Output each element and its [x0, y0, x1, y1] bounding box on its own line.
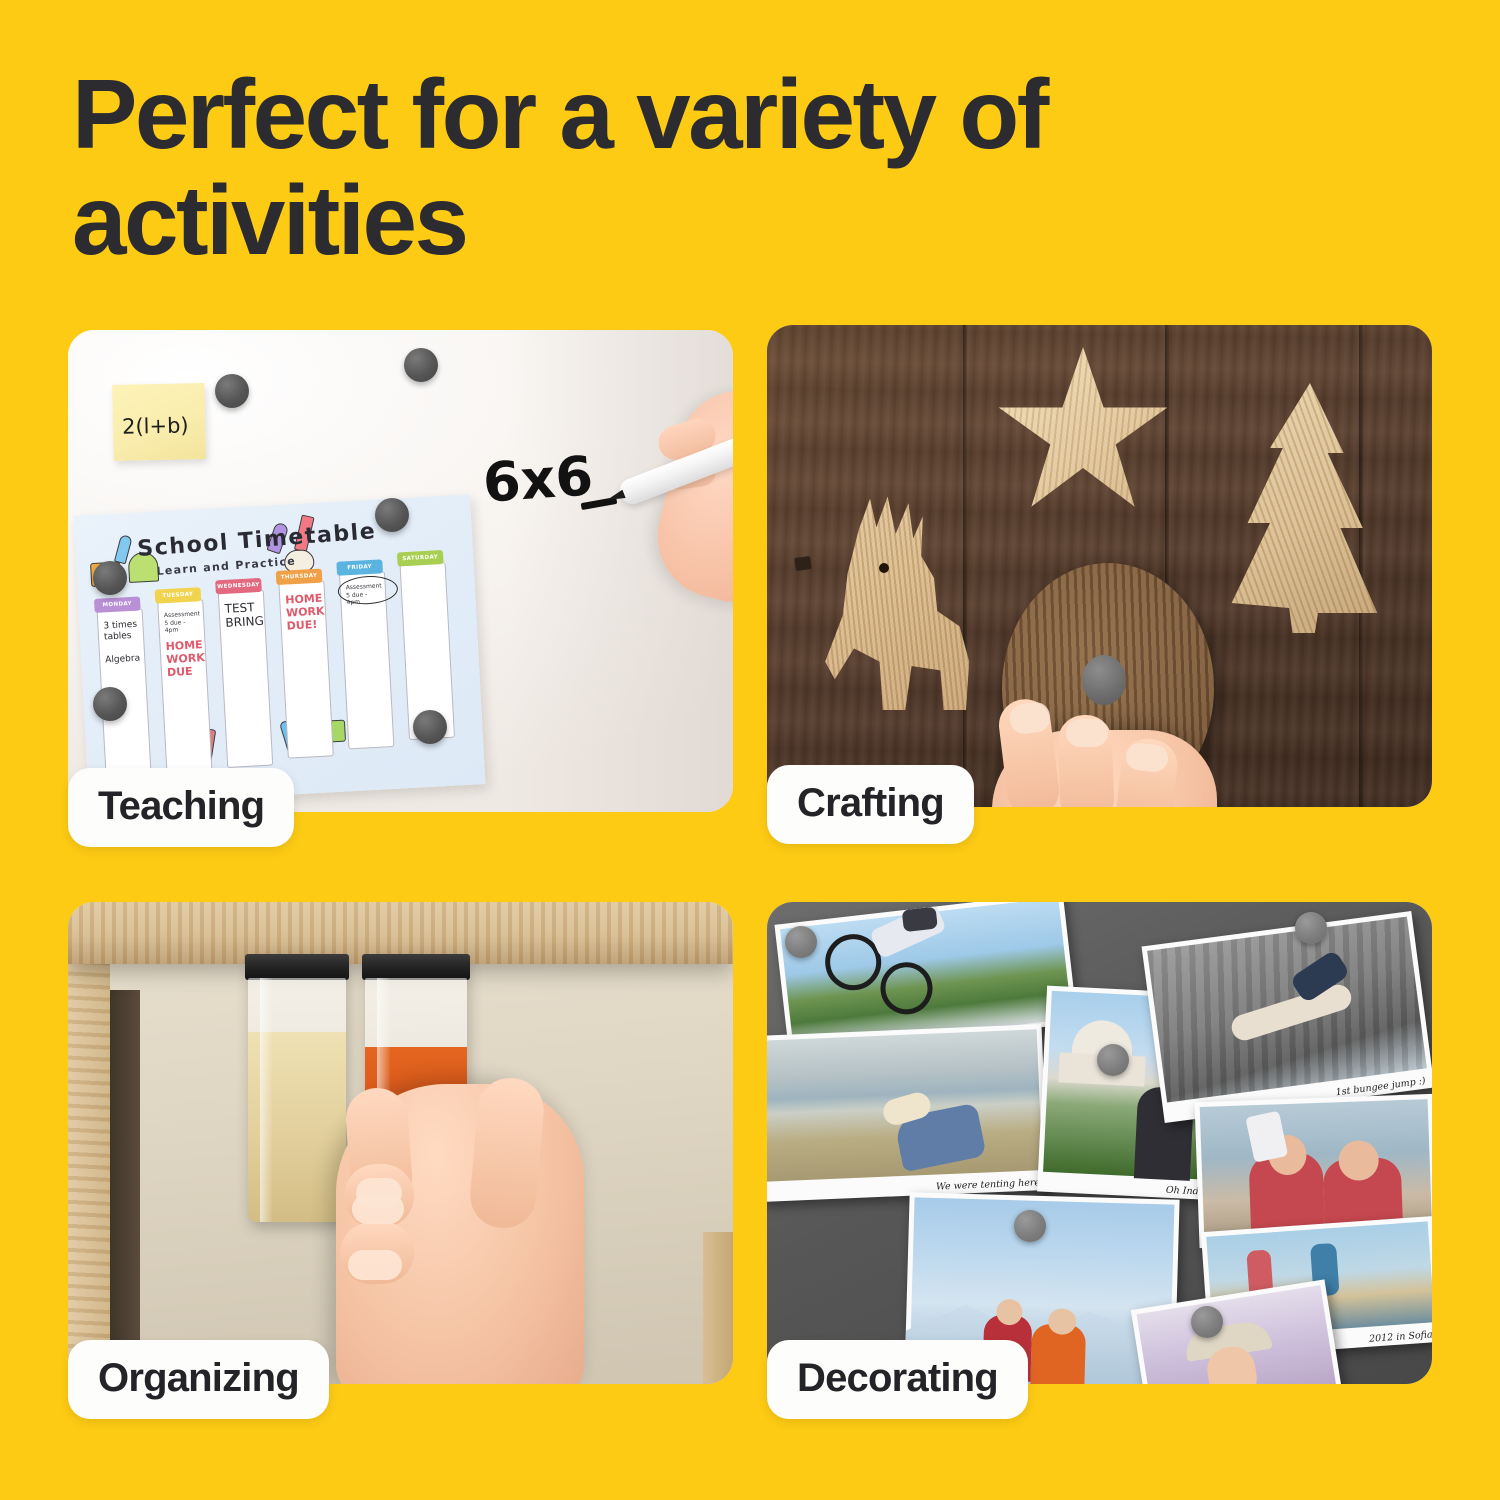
teaching-scene: 2(l+b) School Timetable Learn and Practi… — [68, 330, 733, 812]
day-highlight: HOME WORK DUE — [165, 638, 202, 679]
magnet-dot — [375, 498, 409, 532]
panel-label-teaching: Teaching — [68, 768, 294, 847]
day-tag: TUESDAY — [155, 587, 202, 603]
fingernail — [348, 1250, 402, 1280]
timetable-columns: MONDAY 3 timestablesAlgebra TUESDAY Asse… — [96, 573, 474, 793]
magnet-dot — [1191, 1306, 1223, 1338]
whiteboard-writing: 6x6 — [481, 444, 595, 515]
magnet-dot — [93, 687, 127, 721]
photo-card[interactable]: 1st bungee jump :) — [1142, 911, 1432, 1123]
jar-lid — [362, 954, 470, 980]
day-tag: THURSDAY — [276, 569, 323, 585]
panel-organizing[interactable] — [68, 902, 733, 1384]
panel-label-decorating: Decorating — [767, 1340, 1028, 1419]
magnet-dot — [1082, 655, 1126, 705]
fingernail — [352, 1194, 404, 1224]
poster-title: School Timetable — [136, 519, 377, 562]
crafting-scene — [767, 325, 1432, 807]
day-content: 3 timestablesAlgebra — [103, 620, 140, 667]
organizing-scene — [68, 902, 733, 1384]
wood-seam — [1359, 325, 1363, 807]
magnet-dot — [215, 374, 249, 408]
jar-glass — [248, 978, 346, 1222]
cabinet-frame-left — [68, 960, 110, 1384]
jar-lid — [245, 954, 349, 980]
sticky-note-text: 2(l+b) — [122, 413, 189, 438]
day-tag: SATURDAY — [397, 550, 444, 566]
magnet-dot — [1295, 912, 1327, 944]
magnet-dot — [93, 561, 127, 595]
reindeer-eye — [879, 563, 889, 573]
magnet-dot — [785, 926, 817, 958]
spice-jar — [248, 954, 346, 1222]
page-title: Perfect for a variety of activities — [72, 62, 1352, 274]
panel-decorating[interactable]: We were tenting here Oh India! 1st bunge… — [767, 902, 1432, 1384]
day-highlight: HOME WORK DUE! — [285, 592, 322, 633]
magnet-dot — [1014, 1210, 1046, 1242]
day-highlight: TEST BRING — [224, 601, 260, 630]
panel-label-crafting: Crafting — [767, 765, 974, 844]
panel-teaching[interactable]: 2(l+b) School Timetable Learn and Practi… — [68, 330, 733, 812]
day-tag: WEDNESDAY — [215, 578, 262, 594]
jar-highlight — [260, 978, 273, 1222]
nail-hole — [794, 556, 812, 571]
magnet-dot — [1097, 1044, 1129, 1076]
decorating-scene: We were tenting here Oh India! 1st bunge… — [767, 902, 1432, 1384]
day-note: Assessment 5 due - 4pm — [164, 610, 200, 634]
magnet-dot — [404, 348, 438, 382]
day-tag: FRIDAY — [336, 559, 383, 575]
wood-seam — [963, 325, 967, 807]
fingernail — [1066, 719, 1108, 747]
magnet-dot — [413, 710, 447, 744]
cabinet-frame-right — [703, 1232, 733, 1384]
photo-card[interactable]: We were tenting here — [767, 1024, 1048, 1202]
timetable-poster: School Timetable Learn and Practice MOND… — [73, 494, 485, 805]
panel-label-organizing: Organizing — [68, 1340, 329, 1419]
cabinet-shadow — [110, 990, 140, 1384]
panel-crafting[interactable] — [767, 325, 1432, 807]
sticky-note: 2(l+b) — [112, 383, 206, 461]
day-tag: MONDAY — [94, 596, 141, 612]
